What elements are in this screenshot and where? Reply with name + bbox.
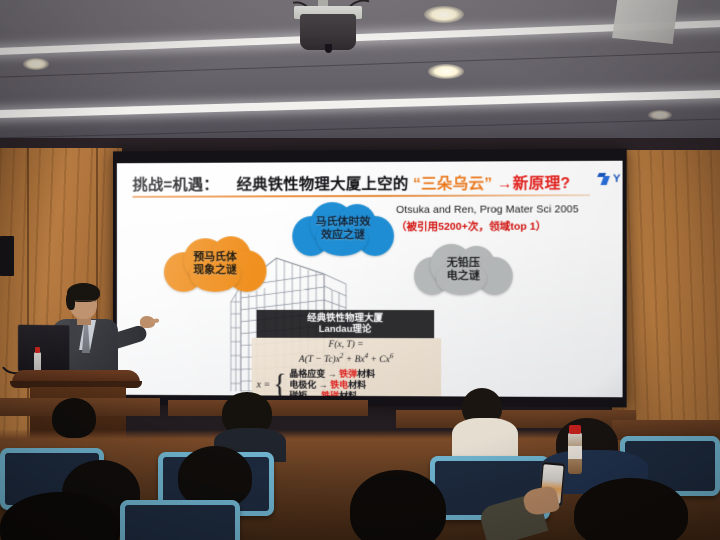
cloud-lead-free-piezo: 无铅压 电之谜 xyxy=(414,244,513,296)
case-rows: 晶格应变 → 铁弹材料 电极化 → 铁电材料 磁矩 → 铁磁材料 xyxy=(289,369,375,398)
case-row-ferroelectric: 电极化 → 铁电材料 xyxy=(289,380,375,392)
equation-line-1: F(x, T) = xyxy=(252,340,442,352)
formula-panel: F(x, T) = A(T − Tc)x2 + Bx4 + Cx6 x = { … xyxy=(252,338,442,397)
cloud-label-line2: 效应之谜 xyxy=(321,229,365,241)
equation-term-c: + Cx xyxy=(368,355,390,365)
ceiling-light-strip xyxy=(0,89,720,119)
equation-term-a: A(T − Tc)x xyxy=(299,355,340,365)
bottle-cap xyxy=(569,425,581,434)
cloud-label-line1: 马氏体时效 xyxy=(316,216,371,228)
title-segment-three-clouds: “三朵乌云” xyxy=(413,175,492,192)
wood-panel-wall-right xyxy=(612,150,720,450)
slide-title: 挑战=机遇： 经典铁性物理大厦上空的 “三朵乌云” →新原理? xyxy=(133,171,603,195)
ceiling xyxy=(0,0,720,152)
equation-term-b: + Bx xyxy=(343,355,364,365)
left-brace-icon: { xyxy=(273,372,286,397)
title-segment-subject: 经典铁性物理大厦上空的 xyxy=(237,176,409,194)
downlight-icon xyxy=(428,64,464,79)
downlight-icon xyxy=(648,110,672,120)
attendee-head xyxy=(178,446,252,508)
y-logo-icon xyxy=(598,172,611,185)
ceiling-seam xyxy=(0,50,720,79)
attendee-head xyxy=(574,478,688,540)
formula-header: 经典铁性物理大厦 Landau理论 xyxy=(257,310,435,338)
projector-lens-icon xyxy=(325,44,332,53)
ceiling-seam xyxy=(0,118,720,140)
attendee-head xyxy=(52,398,96,438)
cloud-label-line1: 预马氏体 xyxy=(193,251,236,263)
podium-bottle xyxy=(34,352,41,372)
exp-6: 6 xyxy=(390,352,394,360)
cloud-premartensite: 预马氏体 现象之谜 xyxy=(164,236,267,292)
brand-logo: Y xyxy=(598,172,621,185)
cloud-label: 马氏体时效 效应之谜 xyxy=(316,216,371,242)
case-suffix: 材料 xyxy=(348,380,366,390)
lecture-hall-photo: 挑战=机遇： 经典铁性物理大厦上空的 “三朵乌云” →新原理? Y Otsuka… xyxy=(0,0,720,540)
formula-header-line2: Landau理论 xyxy=(319,324,372,335)
case-material: 铁电 xyxy=(330,380,348,390)
citation-block: Otsuka and Ren, Prog Mater Sci 2005 （被引用… xyxy=(396,203,613,234)
ceiling-duct xyxy=(612,0,678,44)
cloud-martensite-aging: 马氏体时效 效应之谜 xyxy=(292,202,394,256)
case-material: 铁弹 xyxy=(339,369,357,379)
cloud-label-line1: 无铅压 xyxy=(447,257,480,269)
cloud-label: 预马氏体 现象之谜 xyxy=(193,251,236,277)
brand-logo-text: Y xyxy=(613,172,620,184)
attendee-head xyxy=(350,470,446,540)
bottle-label xyxy=(568,446,582,459)
title-segment-challenge: 挑战=机遇： xyxy=(133,177,219,194)
equation-line-2: A(T − Tc)x2 + Bx4 + Cx6 xyxy=(252,352,442,368)
cloud-label-line2: 电之谜 xyxy=(447,270,480,282)
case-suffix: 材料 xyxy=(357,369,375,379)
case-term: 电极化 → xyxy=(289,380,330,390)
title-divider xyxy=(133,194,590,197)
ceiling-light-strip xyxy=(0,19,720,57)
title-segment-new-principle: →新原理? xyxy=(497,175,570,192)
wall-speaker xyxy=(0,236,14,276)
citation-count: （被引用5200+次，领域top 1） xyxy=(396,218,613,234)
auditorium-seat[interactable] xyxy=(120,500,240,540)
case-row-ferroelastic: 晶格应变 → 铁弹材料 xyxy=(289,369,375,381)
cases-block: x = { 晶格应变 → 铁弹材料 电极化 → 铁电材料 磁矩 → 铁磁材料 xyxy=(252,368,442,397)
cloud-label-line2: 现象之谜 xyxy=(193,264,236,276)
formula-header-line1: 经典铁性物理大厦 xyxy=(307,313,383,324)
x-equals-label: x = xyxy=(257,380,271,391)
presenter-laptop xyxy=(18,325,69,372)
cloud-label: 无铅压 电之谜 xyxy=(447,257,480,283)
projected-slide: 挑战=机遇： 经典铁性物理大厦上空的 “三朵乌云” →新原理? Y Otsuka… xyxy=(117,161,623,398)
downlight-icon xyxy=(23,58,49,70)
case-term: 晶格应变 → xyxy=(289,369,339,379)
glasses-icon xyxy=(74,300,96,306)
citation-reference: Otsuka and Ren, Prog Mater Sci 2005 xyxy=(396,203,613,216)
downlight-icon xyxy=(424,6,464,23)
attendee-shoulders xyxy=(452,418,518,458)
